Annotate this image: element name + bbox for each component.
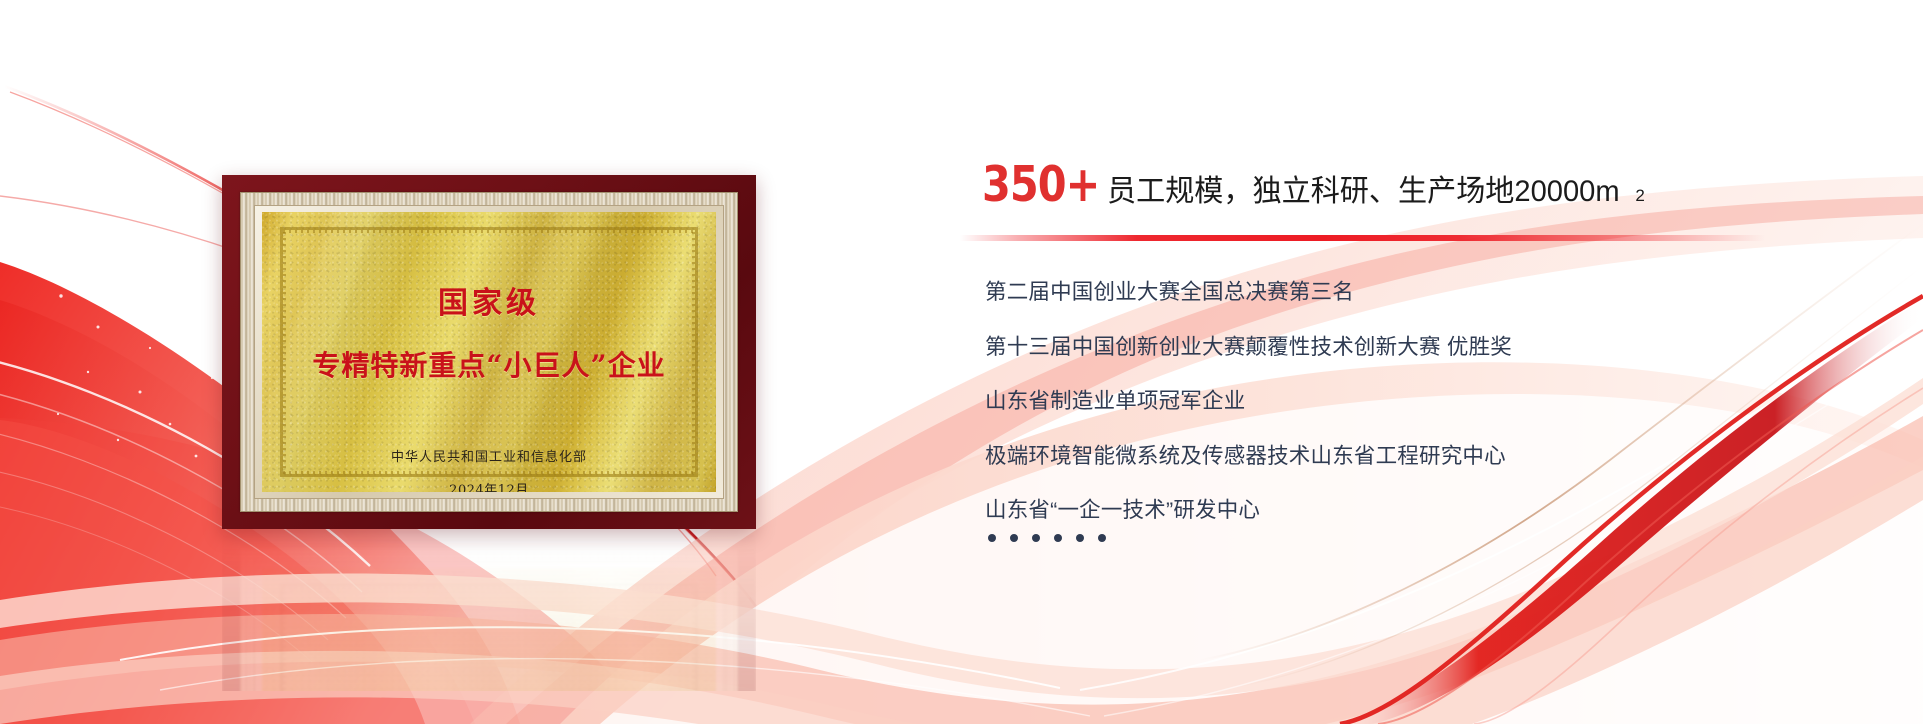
list-item: 第十三届中国创新创业大赛颠覆性技术创新大赛 优胜奖 [985, 337, 1512, 359]
plaque-reflection-bevel [240, 548, 738, 691]
list-item: 第二届中国创业大赛全国总决赛第三名 [985, 282, 1512, 304]
award-list: 第二届中国创业大赛全国总决赛第三名 第十三届中国创新创业大赛颠覆性技术创新大赛 … [985, 282, 1512, 555]
ellipsis-dot [1010, 534, 1018, 542]
plaque-gold-face: 国家级 专精特新重点“小巨人”企业 中华人民共和国工业和信息化部 2024年12… [262, 212, 716, 492]
plaque-inner-rim: 国家级 专精特新重点“小巨人”企业 中华人民共和国工业和信息化部 2024年12… [254, 205, 724, 499]
plaque-title: 国家级 [438, 278, 540, 322]
plaque-reflection [222, 531, 756, 691]
headline-divider [960, 235, 1765, 241]
ellipsis-dot [1076, 534, 1084, 542]
list-item: 山东省“一企一技术”研发中心 [985, 500, 1512, 522]
headline-superscript: 2 [1635, 186, 1644, 206]
list-item: 山东省制造业单项冠军企业 [985, 391, 1512, 413]
ellipsis-dot [1054, 534, 1062, 542]
banner-stage: 国家级 专精特新重点“小巨人”企业 中华人民共和国工业和信息化部 2024年12… [0, 0, 1923, 724]
plaque-text-block: 国家级 专精特新重点“小巨人”企业 中华人民共和国工业和信息化部 2024年12… [262, 212, 716, 492]
award-plaque[interactable]: 国家级 专精特新重点“小巨人”企业 中华人民共和国工业和信息化部 2024年12… [222, 175, 756, 529]
headline-text: 员工规模，独立科研、生产场地20000m [1107, 177, 1620, 207]
more-items-ellipsis-icon [988, 534, 1106, 542]
plaque-bevel-border: 国家级 专精特新重点“小巨人”企业 中华人民共和国工业和信息化部 2024年12… [240, 192, 738, 512]
plaque-issuer: 中华人民共和国工业和信息化部 [391, 446, 587, 465]
plaque-reflection-noise [262, 568, 716, 691]
headline: 350+ 员工规模，独立科研、生产场地20000m 2 [982, 160, 1805, 209]
plaque-subtitle: 专精特新重点“小巨人”企业 [312, 344, 665, 384]
plaque-reflection-streaks [262, 568, 716, 691]
ellipsis-dot [1098, 534, 1106, 542]
ellipsis-dot [1032, 534, 1040, 542]
plaque-reflection-fret [280, 583, 698, 691]
ellipsis-dot [988, 534, 996, 542]
content-column: 350+ 员工规模，独立科研、生产场地20000m 2 第二届中国创业大赛全国总… [985, 160, 1805, 209]
plaque-reflection-rim [254, 561, 724, 691]
plaque-reflection-frame [222, 531, 756, 691]
plaque-frame: 国家级 专精特新重点“小巨人”企业 中华人民共和国工业和信息化部 2024年12… [222, 175, 756, 529]
plaque-reflection-gold [262, 568, 716, 691]
list-item: 极端环境智能微系统及传感器技术山东省工程研究中心 [985, 446, 1512, 468]
plaque-date: 2024年12月 [449, 479, 529, 492]
headline-number: 350+ [982, 160, 1099, 209]
